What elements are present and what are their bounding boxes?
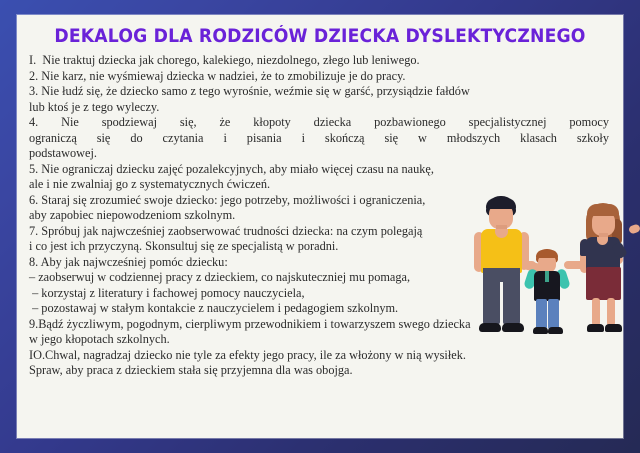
poster-root: DEKALOG DLA RODZICÓW DZIECKA DYSLEKTYCZN… [0, 0, 640, 453]
mother-raised-hand-shape [628, 223, 640, 234]
figure-mother [572, 203, 640, 338]
father-hair-front-shape [486, 198, 516, 209]
figure-boy [521, 249, 579, 337]
decalogue-line: 5. Nie ograniczaj dziecku zajęć pozalekc… [29, 162, 609, 178]
decalogue-line: 3. Nie łudź się, że dziecko samo z tego … [29, 84, 609, 100]
father-right-leg-shape [503, 270, 520, 325]
father-left-shoe-shape [479, 323, 501, 332]
decalogue-line: ograniczą się do czytania i pisania i sk… [29, 131, 609, 147]
decalogue-line: 2. Nie karz, nie wyśmiewaj dziecka w nad… [29, 69, 609, 85]
decalogue-line: I. Nie traktuj dziecka jak chorego, kale… [29, 53, 609, 69]
boy-left-leg-shape [536, 299, 547, 329]
poster-card: DEKALOG DLA RODZICÓW DZIECKA DYSLEKTYCZN… [17, 15, 623, 438]
page-title: DEKALOG DLA RODZICÓW DZIECKA DYSLEKTYCZN… [38, 26, 602, 47]
mother-right-leg-shape [607, 298, 615, 326]
father-left-leg-shape [483, 270, 500, 325]
mother-left-leg-shape [592, 298, 600, 326]
boy-left-shoe-shape [533, 327, 548, 334]
mother-skirt-shape [586, 267, 621, 300]
mother-left-sleeve-shape [580, 239, 590, 256]
decalogue-line: 4. Nie spodziewaj się, że kłopoty dzieck… [29, 115, 609, 131]
decalogue-line: lub ktoś je z tego wyleczy. [29, 100, 609, 116]
decalogue-line: Spraw, aby praca z dzieckiem stała się p… [29, 363, 609, 379]
boy-hair-front-shape [536, 250, 558, 258]
decalogue-line: podstawowej. [29, 146, 609, 162]
boy-right-leg-shape [548, 299, 559, 329]
mother-left-shoe-shape [587, 324, 604, 332]
boy-right-shoe-shape [548, 327, 563, 334]
mother-right-shoe-shape [605, 324, 622, 332]
mother-hair-fringe-shape [587, 204, 619, 216]
boy-shirt-stripe-shape [545, 271, 549, 282]
decalogue-line: ale i nie zwalniaj go z systematycznych … [29, 177, 609, 193]
family-illustration [460, 193, 640, 353]
